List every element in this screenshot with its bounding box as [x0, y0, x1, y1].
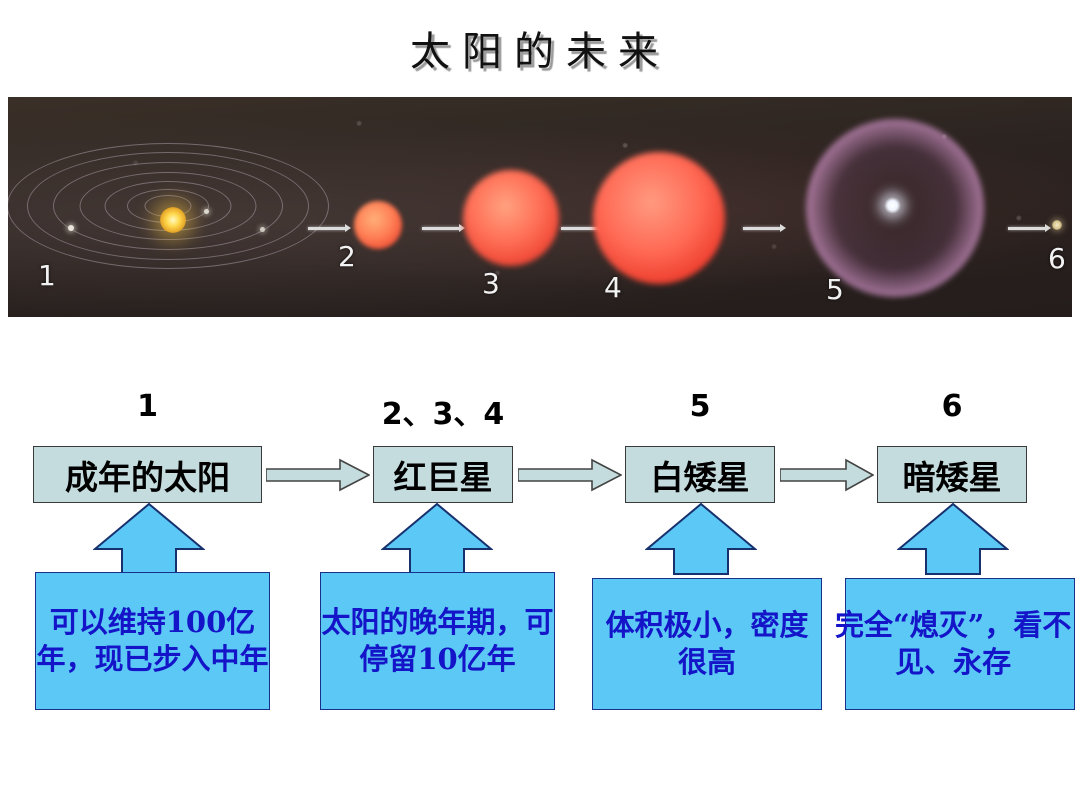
- stage-number-label-3: 5: [625, 389, 775, 424]
- flow-arrow-1-to-2: [266, 458, 370, 492]
- stage-number-label-4: 6: [877, 389, 1027, 424]
- solar-system-orbits: [8, 131, 328, 281]
- orbit-planet-dot: [68, 225, 74, 231]
- riser-arrow-step-1: [93, 503, 205, 575]
- riser-arrow-step-4: [897, 503, 1009, 575]
- flow-arrow-3-to-4: [780, 458, 874, 492]
- figure-stage-number-6: 6: [1048, 242, 1066, 275]
- figure-star-3: [463, 170, 559, 266]
- figure-stage-number-3: 3: [482, 267, 500, 300]
- figure-stage-number-1: 1: [38, 259, 56, 292]
- figure-star-2: [354, 201, 402, 249]
- page-title: 太阳的未来: [0, 28, 1080, 76]
- sun-life-cycle-image: 1 2 3 4 5 6: [8, 97, 1072, 317]
- figure-star-4: [593, 152, 725, 284]
- caption-text-step-4: 完全“熄灭”，看不见、永存: [832, 607, 1074, 681]
- figure-white-dwarf-core: [884, 197, 901, 214]
- caption-box-step-3[interactable]: 体积极小，密度很高: [592, 578, 822, 710]
- stage-name-box-white-dwarf[interactable]: 白矮星: [625, 446, 775, 503]
- caption-text-step-1: 可以维持100亿年，现已步入中年: [36, 604, 269, 678]
- riser-arrow-step-3: [645, 503, 757, 575]
- figure-stage-number-2: 2: [338, 240, 356, 273]
- riser-arrow-step-2: [381, 503, 493, 575]
- caption-box-step-2[interactable]: 太阳的晚年期，可停留10亿年: [320, 572, 555, 710]
- figure-stage-number-4: 4: [604, 271, 622, 304]
- caption-box-step-1[interactable]: 可以维持100亿年，现已步入中年: [35, 572, 270, 710]
- caption-text-step-3: 体积极小，密度很高: [593, 607, 821, 681]
- stage-name-box-red-giant[interactable]: 红巨星: [373, 446, 513, 503]
- figure-stage-number-5: 5: [826, 273, 844, 306]
- caption-box-step-4[interactable]: 完全“熄灭”，看不见、永存: [845, 578, 1075, 710]
- figure-connector-arrow: [422, 227, 460, 230]
- stage-name-box-adult-sun[interactable]: 成年的太阳: [33, 446, 262, 503]
- stage-number-label-2: 2、3、4: [348, 389, 538, 433]
- orbit-planet-dot: [204, 209, 209, 214]
- figure-connector-arrow: [1008, 227, 1046, 230]
- stage-name-box-black-dwarf[interactable]: 暗矮星: [877, 446, 1027, 503]
- stage-1-sun: [160, 207, 186, 233]
- figure-connector-arrow: [743, 227, 781, 230]
- caption-text-step-2: 太阳的晚年期，可停留10亿年: [321, 604, 554, 678]
- flow-arrow-2-to-3: [518, 458, 622, 492]
- stage-number-label-1: 1: [33, 389, 262, 424]
- figure-connector-arrow: [308, 227, 346, 230]
- orbit-planet-dot: [260, 227, 265, 232]
- figure-star-6: [1052, 220, 1062, 230]
